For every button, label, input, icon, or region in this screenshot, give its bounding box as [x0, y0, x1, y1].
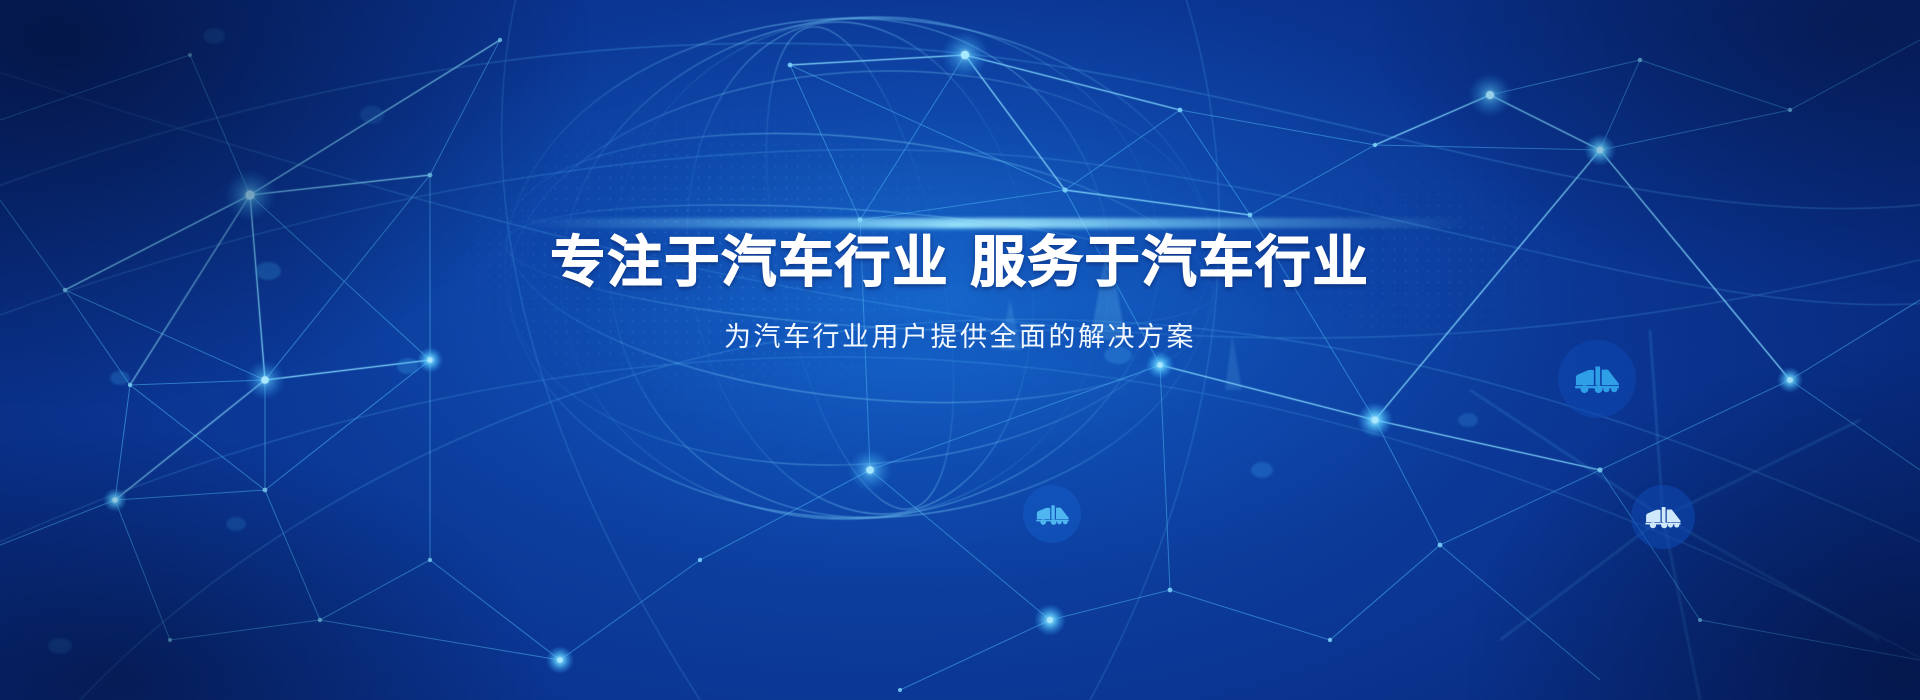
hero-banner: 专注于汽车行业 服务于汽车行业 为汽车行业用户提供全面的解决方案 [0, 0, 1920, 700]
semi-truck-icon [1572, 354, 1622, 404]
semi-truck-badge-1 [1558, 340, 1636, 418]
hero-text-block: 专注于汽车行业 服务于汽车行业 为汽车行业用户提供全面的解决方案 [0, 0, 1920, 700]
hero-subtitle: 为汽车行业用户提供全面的解决方案 [724, 315, 1196, 354]
semi-truck-icon [1643, 497, 1683, 537]
semi-truck-badge-2 [1631, 485, 1695, 549]
semi-truck-badge-3 [1023, 485, 1081, 543]
hero-title: 专注于汽车行业 服务于汽车行业 [550, 232, 1369, 293]
semi-truck-icon [1034, 496, 1071, 533]
